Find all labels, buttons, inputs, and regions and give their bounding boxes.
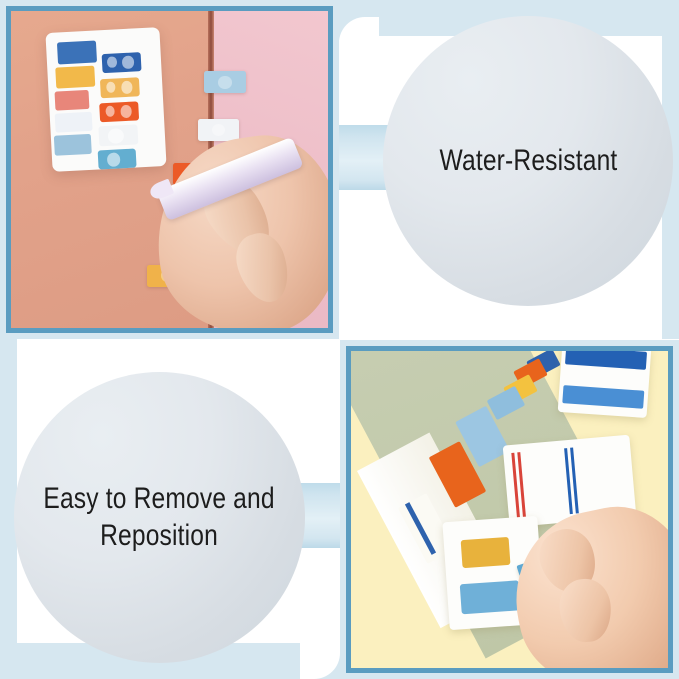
photo-card-tabs-on-yellow-desk bbox=[340, 340, 679, 679]
callout-label-water-resistant: Water-Resistant bbox=[439, 143, 617, 180]
flag-band-blue bbox=[562, 385, 645, 409]
callout-bubble-water-resistant: Water-Resistant bbox=[383, 16, 673, 306]
infographic-canvas: Water-Resistant Easy to Remove and Repos… bbox=[0, 0, 679, 679]
callout-water-resistant: Water-Resistant bbox=[0, 0, 679, 339]
callout-label-easy-to-remove: Easy to Remove and Reposition bbox=[44, 481, 275, 554]
photo-tabs-on-yellow-desk bbox=[351, 351, 668, 668]
flag-band-yellow bbox=[461, 537, 510, 568]
callout-bubble-easy-to-remove: Easy to Remove and Reposition bbox=[14, 372, 305, 663]
flag-band-skyblue bbox=[460, 580, 521, 614]
flag-band-navy bbox=[565, 351, 648, 370]
tab-flag-blue-white bbox=[558, 351, 651, 417]
photo-border bbox=[346, 346, 673, 673]
